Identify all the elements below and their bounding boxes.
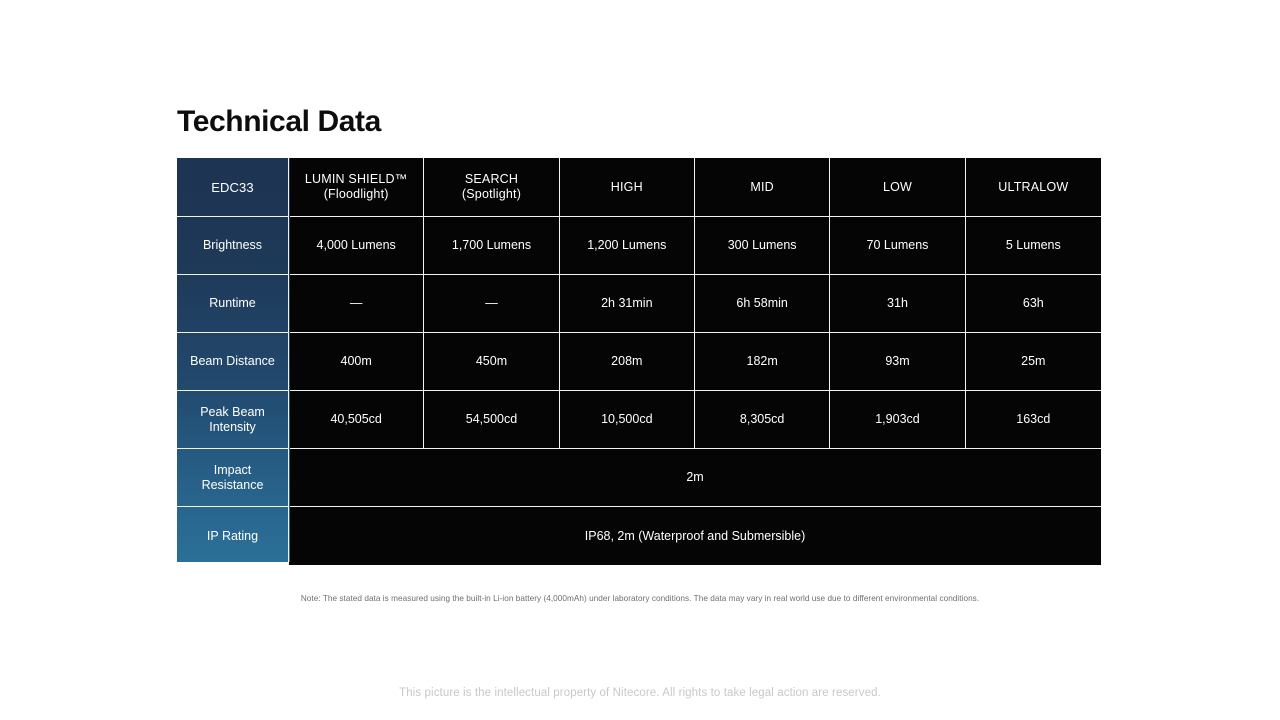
cell-brightness-ultralow: 5 Lumens — [966, 217, 1101, 275]
column-name: LUMIN SHIELD™ — [293, 172, 419, 187]
footnote-text: Note: The stated data is measured using … — [0, 594, 1280, 603]
cell-runtime-low: 31h — [830, 275, 965, 333]
cell-peak-beam-ultralow: 163cd — [966, 391, 1101, 449]
row-label-impact-resistance: Impact Resistance — [177, 449, 289, 507]
cell-peak-beam-search: 54,500cd — [424, 391, 559, 449]
row-label-line1: Impact — [181, 463, 284, 478]
cell-brightness-high: 1,200 Lumens — [560, 217, 695, 275]
table-header-low: LOW — [830, 158, 965, 217]
cell-impact-resistance-value: 2m — [289, 449, 1101, 507]
cell-runtime-mid: 6h 58min — [695, 275, 830, 333]
cell-beam-distance-mid: 182m — [695, 333, 830, 391]
row-label-line1: Peak Beam — [181, 405, 284, 420]
cell-brightness-mid: 300 Lumens — [695, 217, 830, 275]
cell-beam-distance-ultralow: 25m — [966, 333, 1101, 391]
cell-beam-distance-high: 208m — [560, 333, 695, 391]
cell-runtime-ultralow: 63h — [966, 275, 1101, 333]
row-label-line2: Resistance — [181, 478, 284, 493]
row-label-ip-rating: IP Rating — [177, 507, 289, 565]
column-subname: (Spotlight) — [428, 187, 554, 202]
cell-brightness-search: 1,700 Lumens — [424, 217, 559, 275]
table-row: Peak Beam Intensity 40,505cd 54,500cd 10… — [177, 391, 1101, 449]
cell-peak-beam-mid: 8,305cd — [695, 391, 830, 449]
table-row: IP Rating IP68, 2m (Waterproof and Subme… — [177, 507, 1101, 565]
table-header-mid: MID — [695, 158, 830, 217]
table-row: Runtime — — 2h 31min 6h 58min 31h 63h — [177, 275, 1101, 333]
column-name: SEARCH — [428, 172, 554, 187]
table-row: Brightness 4,000 Lumens 1,700 Lumens 1,2… — [177, 217, 1101, 275]
table-header-search: SEARCH (Spotlight) — [424, 158, 559, 217]
technical-data-table: EDC33 LUMIN SHIELD™ (Floodlight) SEARCH … — [177, 158, 1101, 565]
table-header-ultralow: ULTRALOW — [966, 158, 1101, 217]
table-row: Impact Resistance 2m — [177, 449, 1101, 507]
slide-canvas: Technical Data EDC33 LUMIN SHIELD™ (Floo… — [0, 0, 1280, 720]
row-label-brightness: Brightness — [177, 217, 289, 275]
table-row: Beam Distance 400m 450m 208m 182m 93m 25… — [177, 333, 1101, 391]
cell-brightness-low: 70 Lumens — [830, 217, 965, 275]
row-label-runtime: Runtime — [177, 275, 289, 333]
row-label-peak-beam-intensity: Peak Beam Intensity — [177, 391, 289, 449]
cell-peak-beam-lumin-shield: 40,505cd — [289, 391, 424, 449]
column-subname: (Floodlight) — [293, 187, 419, 202]
table-header-model: EDC33 — [177, 158, 289, 217]
cell-brightness-lumin-shield: 4,000 Lumens — [289, 217, 424, 275]
table-header-lumin-shield: LUMIN SHIELD™ (Floodlight) — [289, 158, 424, 217]
page-title: Technical Data — [177, 103, 381, 141]
table-header-row: EDC33 LUMIN SHIELD™ (Floodlight) SEARCH … — [177, 158, 1101, 217]
cell-beam-distance-low: 93m — [830, 333, 965, 391]
row-label-line2: Intensity — [181, 420, 284, 435]
cell-beam-distance-search: 450m — [424, 333, 559, 391]
cell-peak-beam-low: 1,903cd — [830, 391, 965, 449]
cell-peak-beam-high: 10,500cd — [560, 391, 695, 449]
cell-runtime-search: — — [424, 275, 559, 333]
cell-ip-rating-value: IP68, 2m (Waterproof and Submersible) — [289, 507, 1101, 565]
row-label-beam-distance: Beam Distance — [177, 333, 289, 391]
cell-runtime-lumin-shield: — — [289, 275, 424, 333]
cell-runtime-high: 2h 31min — [560, 275, 695, 333]
table-header-high: HIGH — [560, 158, 695, 217]
copyright-text: This picture is the intellectual propert… — [0, 687, 1280, 699]
cell-beam-distance-lumin-shield: 400m — [289, 333, 424, 391]
